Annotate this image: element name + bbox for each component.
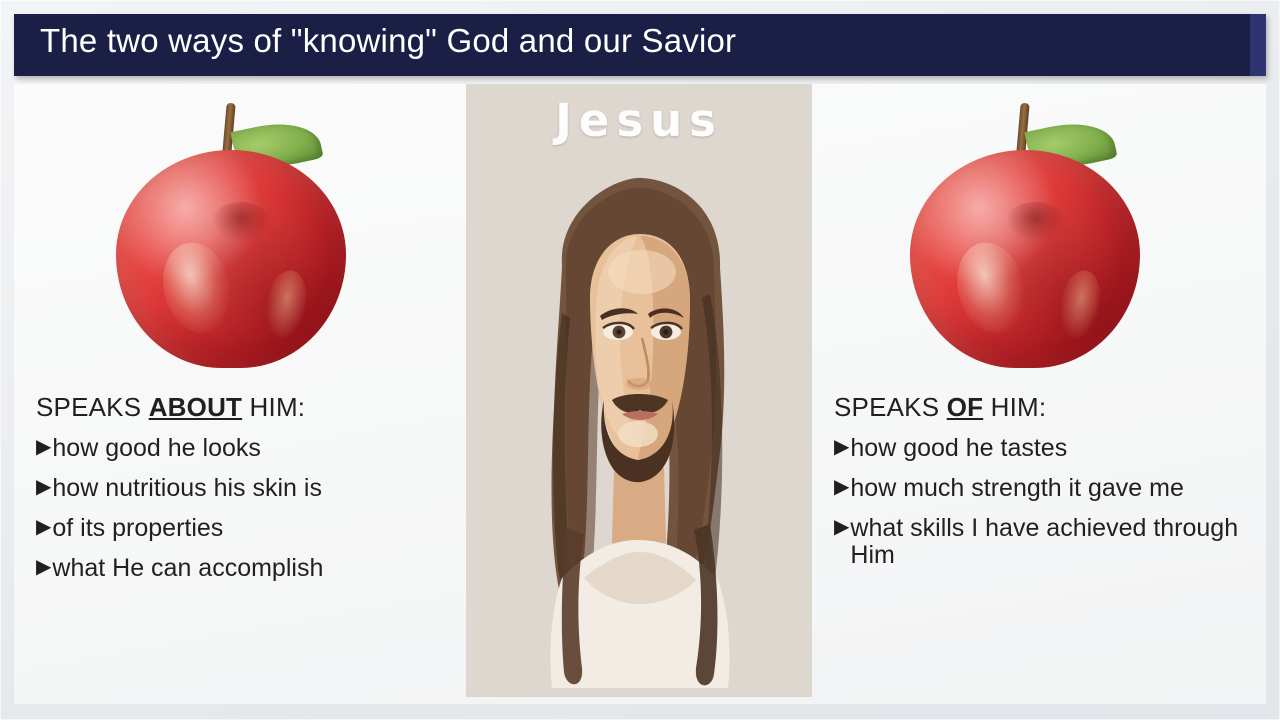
apple-body <box>116 150 346 368</box>
apple-highlight <box>948 235 1034 340</box>
triangle-bullet-icon: ▶ <box>834 435 849 461</box>
apple-image-right <box>900 95 1150 370</box>
triangle-bullet-icon: ▶ <box>834 475 849 501</box>
list-item: ▶ how good he tastes <box>834 435 1254 462</box>
right-heading-prefix: SPEAKS <box>834 392 947 422</box>
jesus-image-panel: Jesus <box>466 84 812 697</box>
apple-highlight <box>154 235 240 340</box>
apple-body <box>910 150 1140 368</box>
apple-highlight-secondary <box>260 267 312 343</box>
list-item: ▶ of its properties <box>36 515 456 542</box>
list-item-label: of its properties <box>52 515 456 542</box>
left-heading-emphasis: ABOUT <box>149 392 242 422</box>
list-item: ▶ what He can accomplish <box>36 555 456 582</box>
triangle-bullet-icon: ▶ <box>36 435 51 461</box>
apple-crease <box>212 202 270 242</box>
list-item-label: what skills I have achieved through Him <box>850 515 1254 569</box>
list-item-label: how good he tastes <box>850 435 1254 462</box>
right-heading-emphasis: OF <box>947 392 984 422</box>
list-item: ▶ how nutritious his skin is <box>36 475 456 502</box>
list-item-label: how nutritious his skin is <box>52 475 456 502</box>
right-column-heading: SPEAKS OF HIM: <box>834 392 1254 423</box>
title-bar-accent <box>1250 14 1266 76</box>
list-item: ▶ how good he looks <box>36 435 456 462</box>
triangle-bullet-icon: ▶ <box>36 555 51 581</box>
triangle-bullet-icon: ▶ <box>834 515 849 541</box>
page-title: The two ways of "knowing" God and our Sa… <box>40 22 736 60</box>
list-item: ▶ how much strength it gave me <box>834 475 1254 502</box>
jesus-caption: Jesus <box>466 94 812 147</box>
title-bar: The two ways of "knowing" God and our Sa… <box>14 14 1266 76</box>
list-item-label: how much strength it gave me <box>850 475 1254 502</box>
list-item-label: what He can accomplish <box>52 555 456 582</box>
apple-crease <box>1006 202 1064 242</box>
apple-image-left <box>106 95 356 370</box>
list-item: ▶ what skills I have achieved through Hi… <box>834 515 1254 569</box>
triangle-bullet-icon: ▶ <box>36 475 51 501</box>
right-text-column: SPEAKS OF HIM: ▶ how good he tastes ▶ ho… <box>834 392 1254 582</box>
left-heading-prefix: SPEAKS <box>36 392 149 422</box>
right-heading-suffix: HIM: <box>983 392 1046 422</box>
left-column-heading: SPEAKS ABOUT HIM: <box>36 392 456 423</box>
apple-highlight-secondary <box>1054 267 1106 343</box>
triangle-bullet-icon: ▶ <box>36 515 51 541</box>
jesus-portrait-illustration <box>466 148 812 697</box>
list-item-label: how good he looks <box>52 435 456 462</box>
left-heading-suffix: HIM: <box>242 392 305 422</box>
left-text-column: SPEAKS ABOUT HIM: ▶ how good he looks ▶ … <box>36 392 456 595</box>
slide: The two ways of "knowing" God and our Sa… <box>0 0 1280 720</box>
